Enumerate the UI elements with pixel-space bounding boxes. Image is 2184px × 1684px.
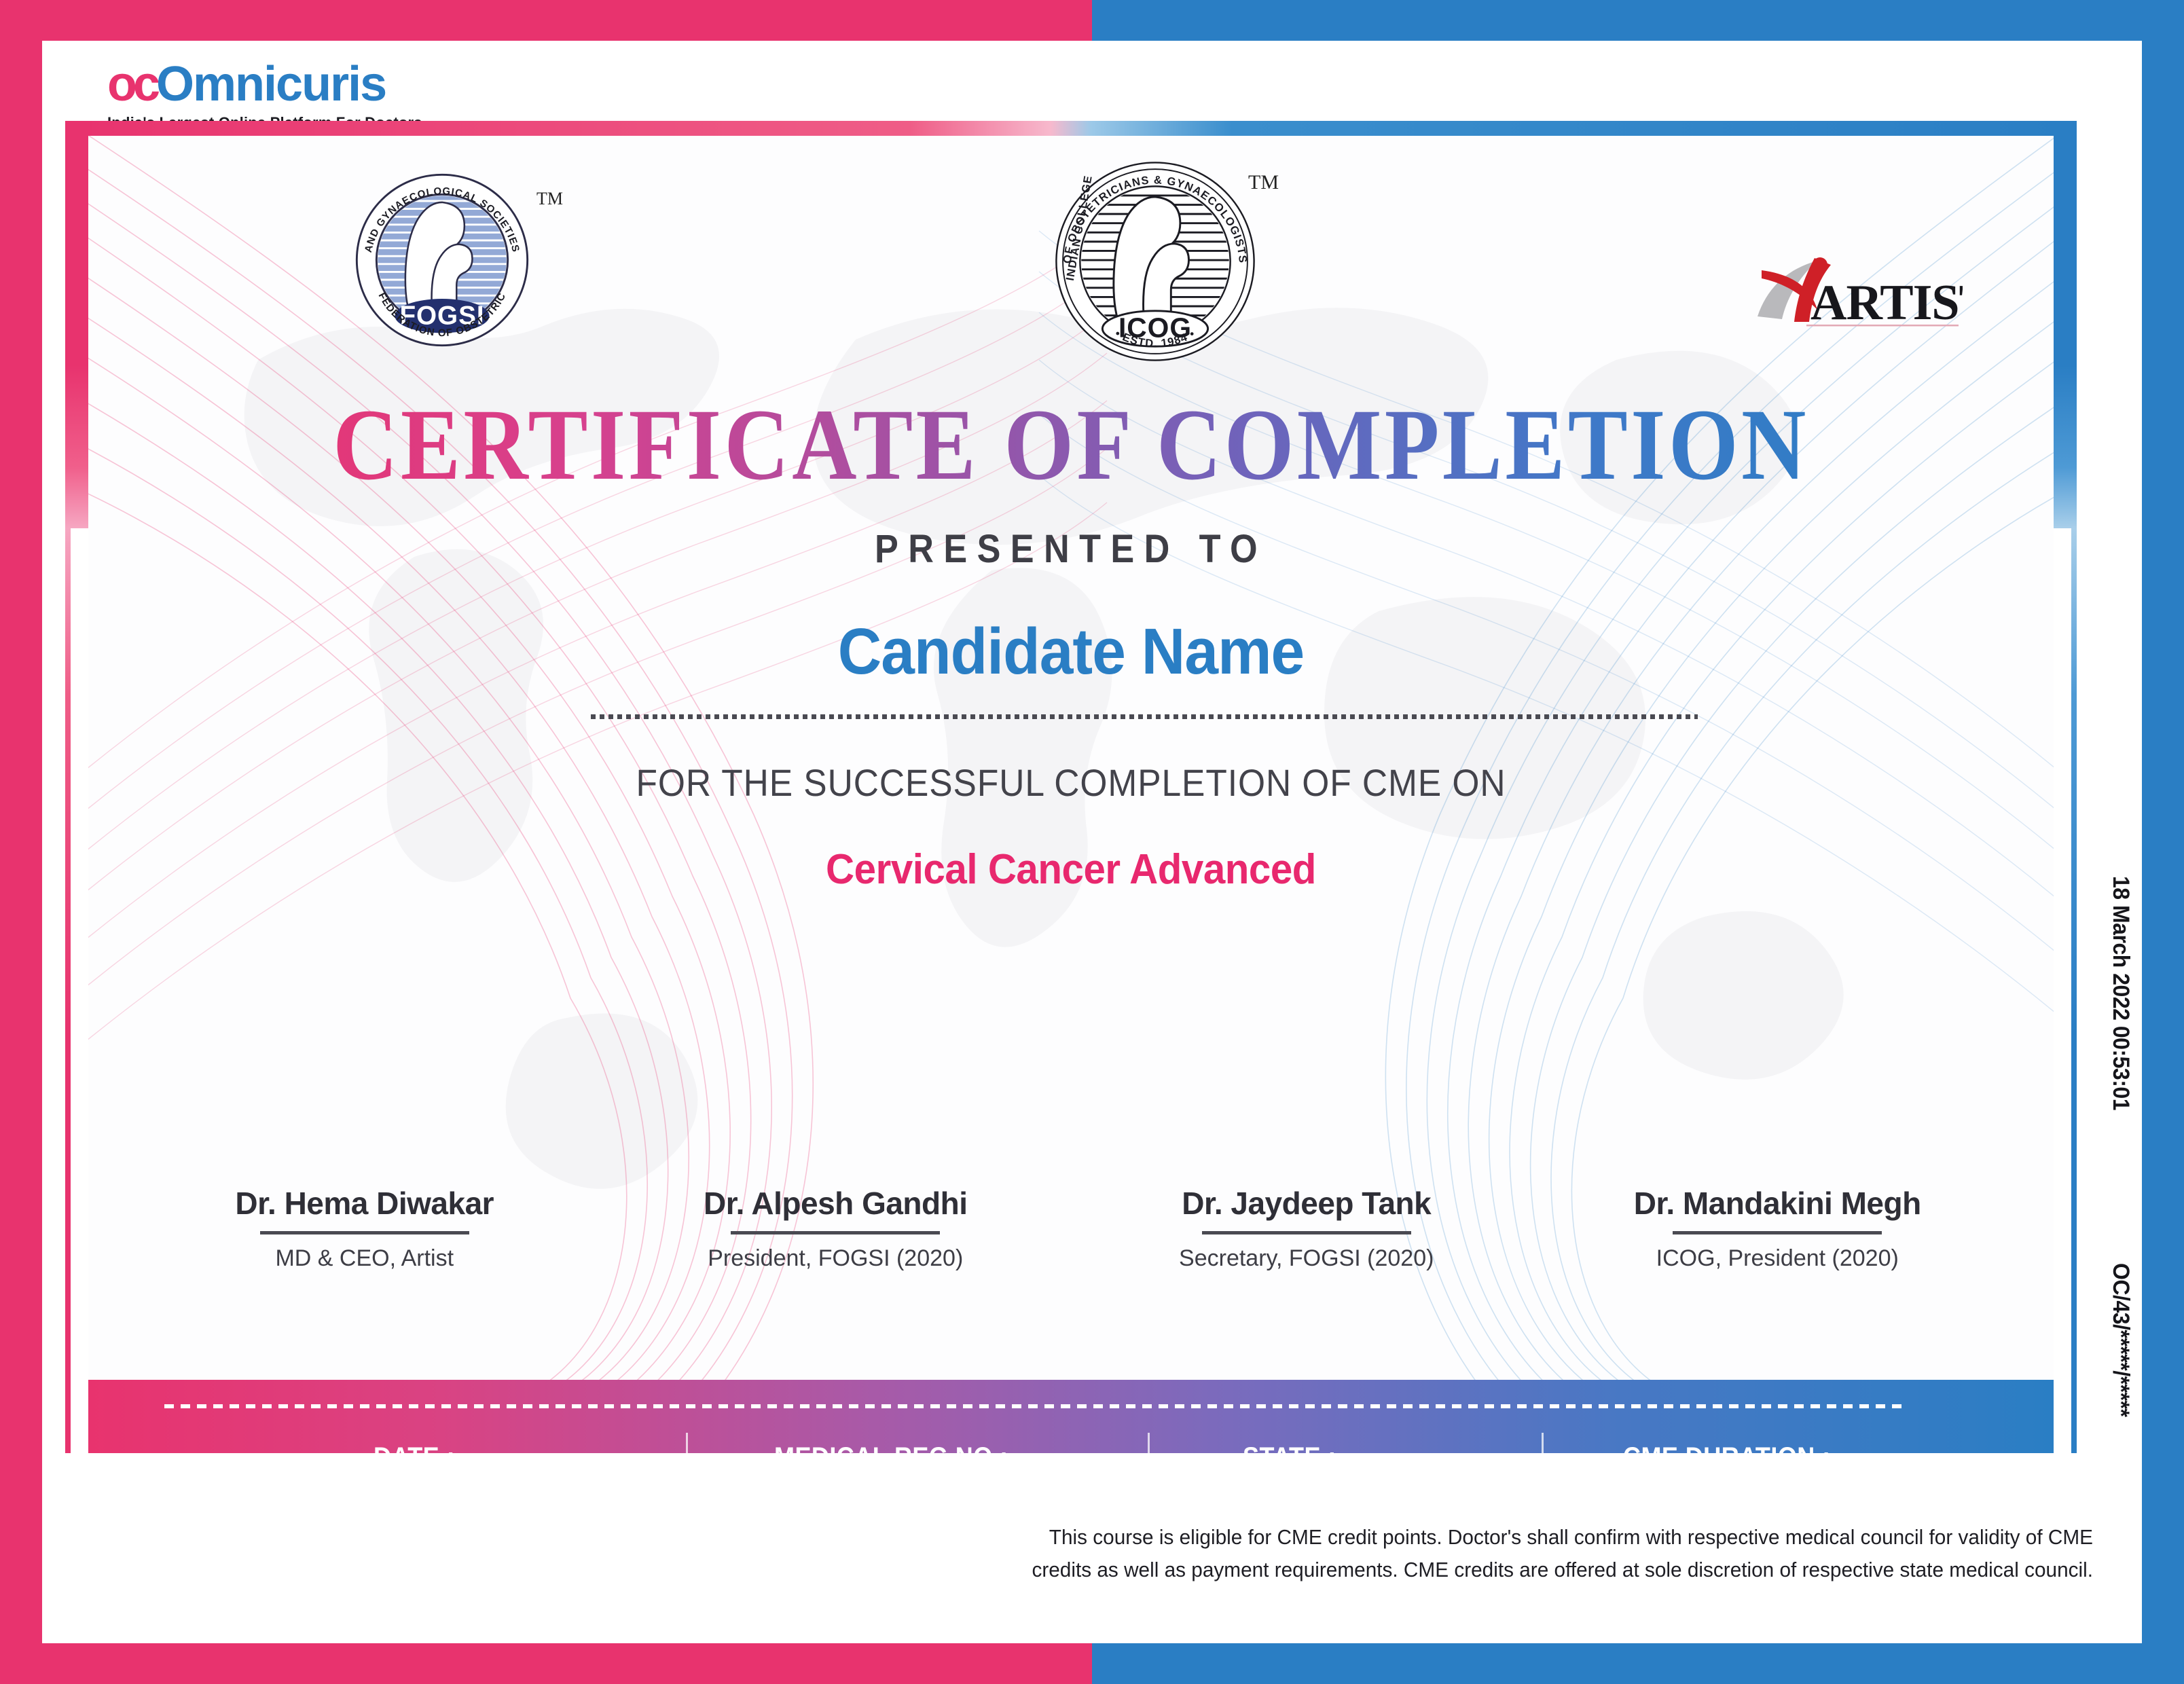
svg-text:ARTIST: ARTIST bbox=[1810, 275, 1963, 331]
signatory-name: Dr. Jaydeep Tank bbox=[1071, 1185, 1542, 1222]
signatory-block: Dr. Alpesh Gandhi President, FOGSI (2020… bbox=[600, 1185, 1072, 1272]
recipient-name-rule bbox=[591, 714, 1698, 719]
signatory-block: Dr. Mandakini Megh ICOG, President (2020… bbox=[1542, 1185, 2014, 1272]
presented-to-label: PRESENTED TO bbox=[187, 526, 1956, 572]
signatory-name: Dr. Alpesh Gandhi bbox=[600, 1185, 1072, 1222]
icog-tm-mark: TM bbox=[1248, 171, 1279, 194]
footer-divider bbox=[686, 1433, 688, 1453]
issued-timestamp: 18 March 2022 00:53:01 bbox=[2107, 876, 2134, 1110]
frame-top-band bbox=[65, 121, 2077, 136]
recipient-name: Candidate Name bbox=[157, 615, 1984, 689]
serial-number: OC/43/*****/***** bbox=[2107, 1263, 2134, 1417]
signatory-name: Dr. Hema Diwakar bbox=[129, 1185, 600, 1222]
signatory-block: Dr. Hema Diwakar MD & CEO, Artist bbox=[129, 1185, 600, 1272]
field-date-label[interactable]: DATE : bbox=[374, 1442, 455, 1453]
footer-divider bbox=[1148, 1433, 1150, 1453]
icog-logo: ICOG OF OBSTETRICIANS & GYNAECOLOGISTS •… bbox=[1043, 149, 1267, 373]
signatory-name: Dr. Mandakini Megh bbox=[1542, 1185, 2014, 1222]
field-medical-regno-label[interactable]: MEDICAL REG.NO : bbox=[774, 1442, 1008, 1453]
frame-left-rule bbox=[65, 528, 71, 1453]
fogsi-tm-mark: TM bbox=[536, 189, 563, 209]
fogsi-logo: FOGSI AND GYNAECOLOGICAL SOCIETIES FEDER… bbox=[344, 162, 541, 359]
signatory-role: ICOG, President (2020) bbox=[1542, 1245, 2014, 1272]
footer-detail-bar: DATE : MEDICAL REG.NO : STATE : CME DURA… bbox=[88, 1380, 2054, 1453]
footer-field-group: DATE : MEDICAL REG.NO : STATE : CME DURA… bbox=[88, 1427, 2054, 1453]
certificate-title: CERTIFICATE OF COMPLETION bbox=[206, 394, 1936, 496]
certificate-paper: ocOmnicuris India's Largest Online Platf… bbox=[42, 41, 2142, 1643]
signature-rule bbox=[1673, 1231, 1882, 1234]
frame-right-bar bbox=[2050, 121, 2077, 528]
signature-rule bbox=[731, 1231, 940, 1234]
brand-wordmark: ocOmnicuris bbox=[107, 60, 610, 109]
certificate-page: ocOmnicuris India's Largest Online Platf… bbox=[0, 0, 2184, 1684]
brand-name: Omnicuris bbox=[156, 57, 386, 111]
oc-monogram: oc bbox=[107, 57, 156, 111]
field-state-label[interactable]: STATE : bbox=[1243, 1442, 1336, 1453]
field-cme-duration-label[interactable]: CME DURATION : bbox=[1623, 1442, 1831, 1453]
course-name: Cervical Cancer Advanced bbox=[147, 845, 1995, 894]
frame-right-rule bbox=[2071, 528, 2077, 1453]
signature-rule bbox=[260, 1231, 469, 1234]
artist-logo: ARTIST bbox=[1752, 251, 1963, 333]
signatory-role: Secretary, FOGSI (2020) bbox=[1071, 1245, 1542, 1272]
vertical-metadata-strip: 18 March 2022 00:53:01 OC/43/*****/***** bbox=[2097, 41, 2136, 1643]
cme-disclaimer: This course is eligible for CME credit p… bbox=[1030, 1521, 2093, 1586]
footer-dashed-rule bbox=[164, 1404, 1903, 1408]
completion-statement: FOR THE SUCCESSFUL COMPLETION OF CME ON bbox=[167, 761, 1975, 805]
signatory-row: Dr. Hema Diwakar MD & CEO, Artist Dr. Al… bbox=[129, 1185, 2013, 1272]
footer-divider bbox=[1542, 1433, 1544, 1453]
certificate-canvas: FOGSI AND GYNAECOLOGICAL SOCIETIES FEDER… bbox=[88, 136, 2054, 1380]
signature-rule bbox=[1202, 1231, 1411, 1234]
certificate-frame: FOGSI AND GYNAECOLOGICAL SOCIETIES FEDER… bbox=[65, 121, 2077, 1453]
signatory-block: Dr. Jaydeep Tank Secretary, FOGSI (2020) bbox=[1071, 1185, 1542, 1272]
signatory-role: President, FOGSI (2020) bbox=[600, 1245, 1072, 1272]
signatory-role: MD & CEO, Artist bbox=[129, 1245, 600, 1272]
